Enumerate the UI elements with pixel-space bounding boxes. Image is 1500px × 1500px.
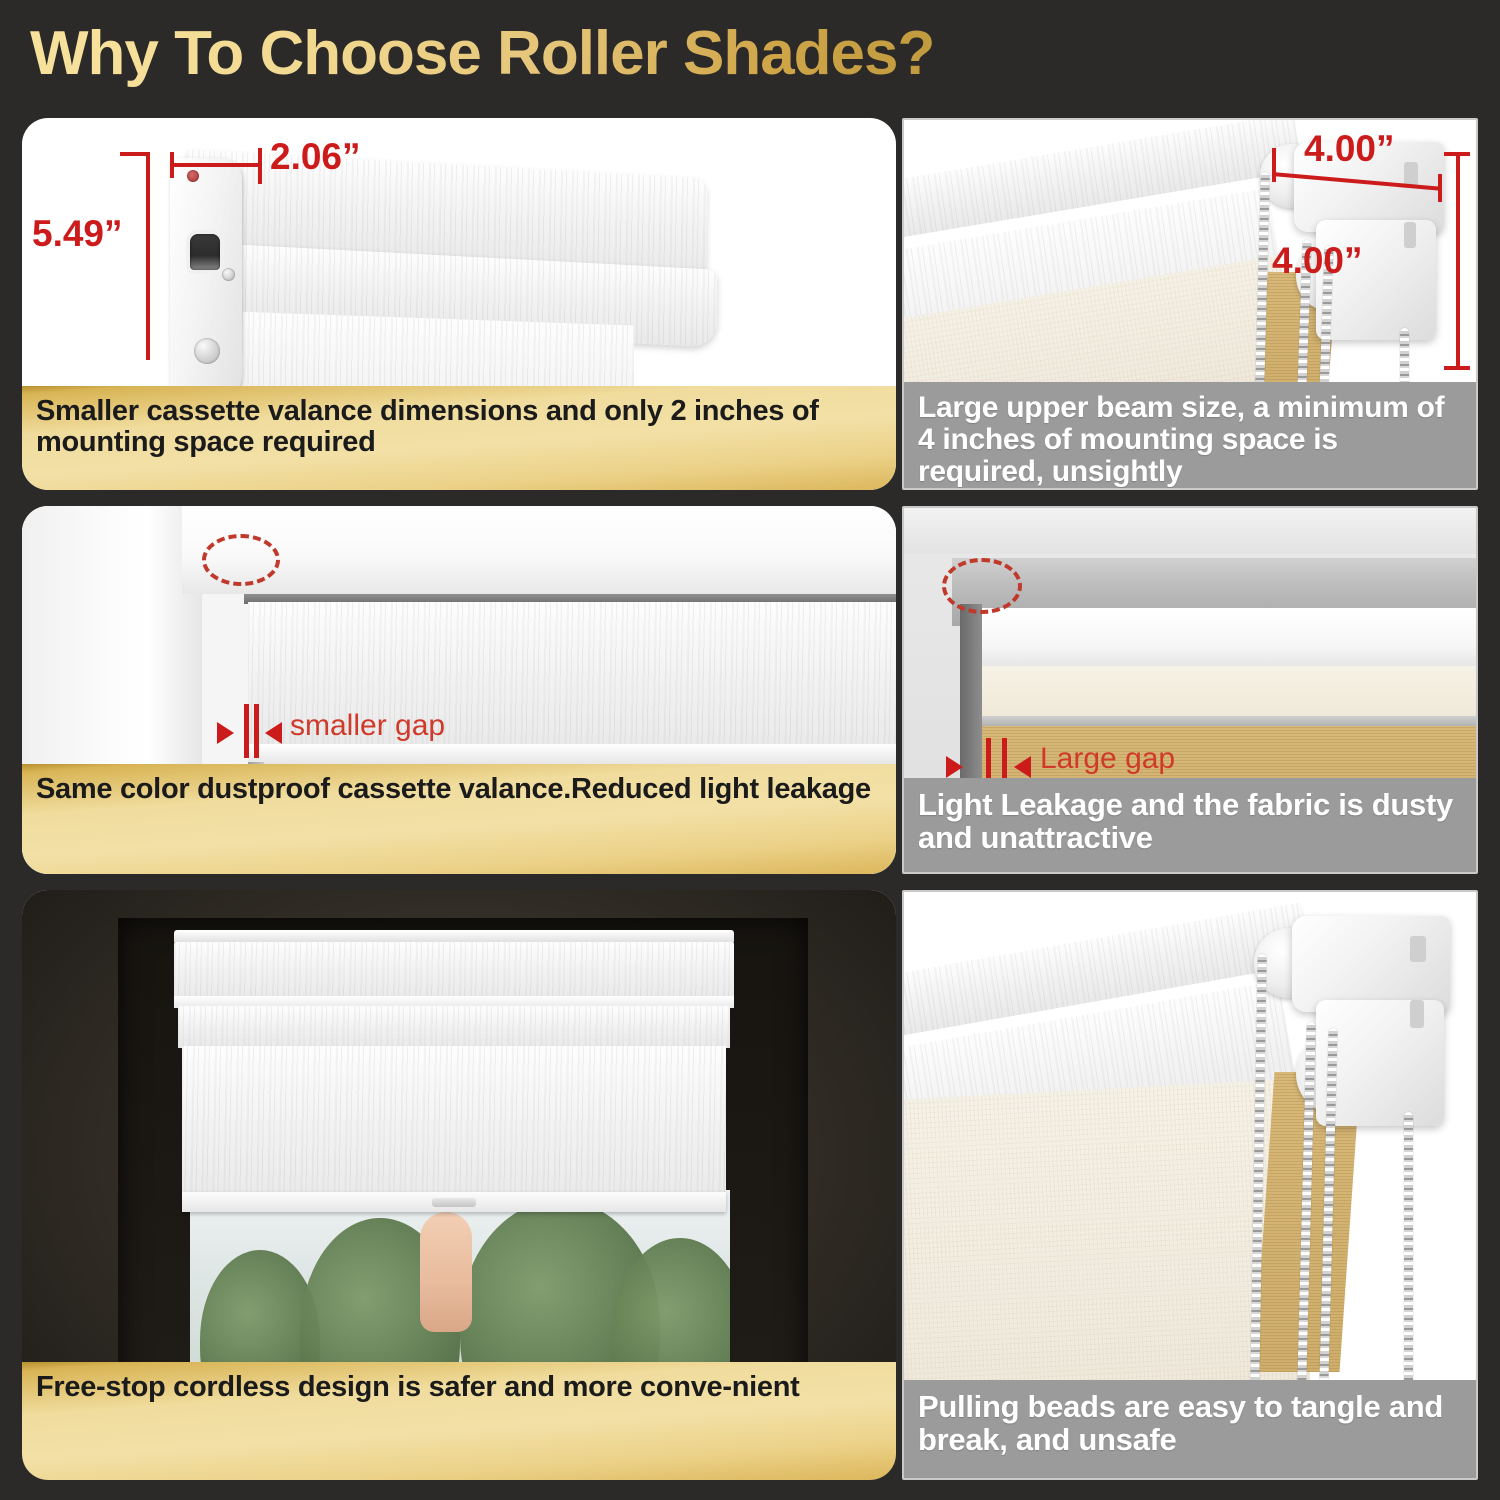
bracket-notch-1 bbox=[1404, 162, 1418, 186]
mount-screw-top bbox=[187, 170, 199, 182]
highlight-ellipse bbox=[202, 534, 280, 586]
shade-assembly bbox=[174, 930, 734, 1210]
shade-fabric bbox=[182, 1046, 726, 1206]
caption-dustproof-cassette: Same color dustproof cassette valance.Re… bbox=[22, 764, 896, 874]
bracket-notch-1 bbox=[1410, 936, 1426, 962]
mounting-bracket-upper bbox=[1292, 916, 1450, 1012]
bottom-rail-grip bbox=[432, 1198, 476, 1207]
panel-free-stop-cordless: Free-stop cordless design is safer and m… bbox=[22, 890, 896, 1480]
valance-skirt bbox=[178, 1006, 730, 1048]
dim-line-206 bbox=[170, 163, 262, 167]
valance-bottom-lip bbox=[248, 744, 896, 766]
dim-line-549-upper bbox=[146, 152, 150, 360]
dim-cap-bottom-400h bbox=[1444, 366, 1470, 370]
panel-light-leakage: Large gap Light Leakage and the fabric i… bbox=[902, 506, 1478, 874]
dimension-label-beam-width: 4.00” bbox=[1304, 128, 1395, 170]
panel-pulling-beads: Pulling beads are easy to tangle and bre… bbox=[902, 890, 1478, 1480]
panel-smaller-cassette: 2.06” 5.49” Smaller cassette valance dim… bbox=[22, 118, 896, 490]
gap-arrow-left bbox=[217, 722, 234, 744]
caption-free-stop-cordless: Free-stop cordless design is safer and m… bbox=[22, 1362, 896, 1480]
valance-end-cap bbox=[170, 158, 242, 404]
dim-cap-right-206 bbox=[258, 148, 262, 184]
gap-callout-label: smaller gap bbox=[290, 709, 445, 743]
panel-dustproof-cassette: smaller gap Same color dustproof cassett… bbox=[22, 506, 896, 874]
bead-chain-4 bbox=[1400, 328, 1409, 390]
gap-arrow-left bbox=[946, 756, 963, 778]
panel-large-upper-beam: 4.00” 4.00” Large upper beam size, a min… bbox=[902, 118, 1478, 490]
bracket-notch-2 bbox=[1410, 1000, 1424, 1028]
dim-cap-right-400w bbox=[1438, 174, 1442, 202]
gap-bar-right bbox=[254, 704, 259, 758]
caption-light-leakage: Light Leakage and the fabric is dusty an… bbox=[904, 778, 1476, 872]
caption-smaller-cassette: Smaller cassette valance dimensions and … bbox=[22, 386, 896, 490]
caption-pulling-beads: Pulling beads are easy to tangle and bre… bbox=[904, 1380, 1476, 1478]
ceiling-strip bbox=[904, 508, 1476, 554]
gap-arrow-right bbox=[1014, 756, 1031, 778]
beam-lower-face bbox=[974, 666, 1476, 722]
dimension-label-height: 5.49” bbox=[32, 213, 123, 255]
gap-arrow-right bbox=[265, 722, 282, 744]
mount-screw-lower bbox=[194, 338, 220, 364]
hand bbox=[420, 1212, 472, 1332]
dimension-label-beam-height: 4.00” bbox=[1272, 240, 1363, 282]
infographic-page: Why To Choose Roller Shades? 2.06” 5.49”… bbox=[0, 0, 1500, 1500]
dim-cap-left-400w bbox=[1272, 148, 1276, 182]
highlight-ellipse bbox=[942, 558, 1022, 614]
beam-front-face bbox=[962, 608, 1476, 672]
cassette-slot bbox=[190, 234, 220, 270]
bead-chain-4 bbox=[1404, 1112, 1413, 1384]
cassette-valance bbox=[174, 942, 734, 1000]
window-frame-header bbox=[182, 506, 896, 594]
dim-cap-top-549 bbox=[120, 152, 146, 156]
dim-line-400-height bbox=[1456, 152, 1460, 370]
page-title: Why To Choose Roller Shades? bbox=[30, 18, 934, 89]
caption-large-upper-beam: Large upper beam size, a minimum of 4 in… bbox=[904, 382, 1476, 488]
mount-screw-mid bbox=[222, 268, 235, 281]
gap-bar-left bbox=[244, 704, 249, 758]
bracket-notch-2 bbox=[1404, 222, 1416, 248]
gap-callout-label: Large gap bbox=[1040, 742, 1175, 776]
dimension-label-width: 2.06” bbox=[270, 136, 361, 178]
